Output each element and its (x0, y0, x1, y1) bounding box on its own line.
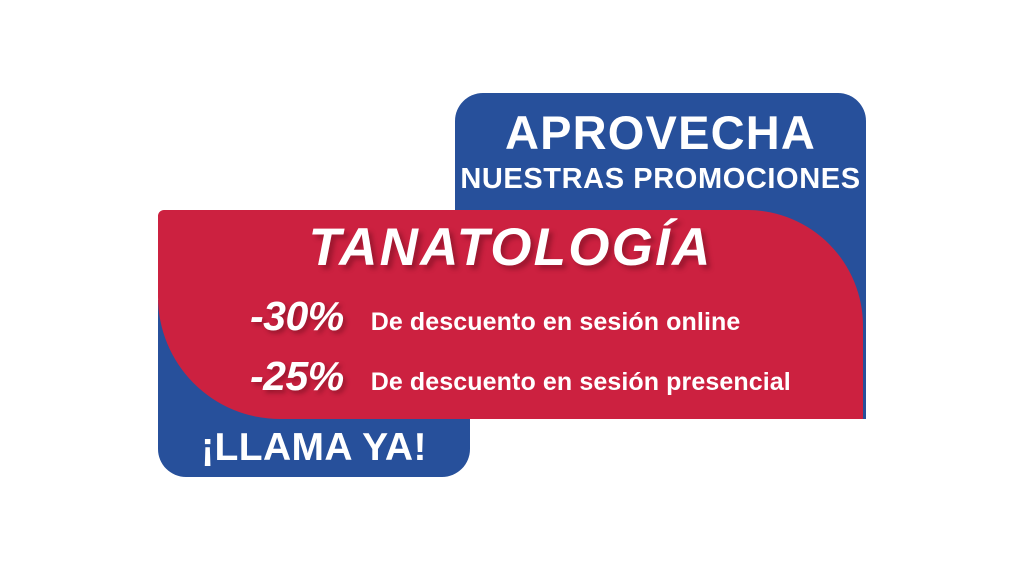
promo-banner: APROVECHA NUESTRAS PROMOCIONES TANATOLOG… (0, 0, 1024, 576)
banner-shapes (0, 0, 1024, 576)
red-shape (158, 210, 863, 419)
